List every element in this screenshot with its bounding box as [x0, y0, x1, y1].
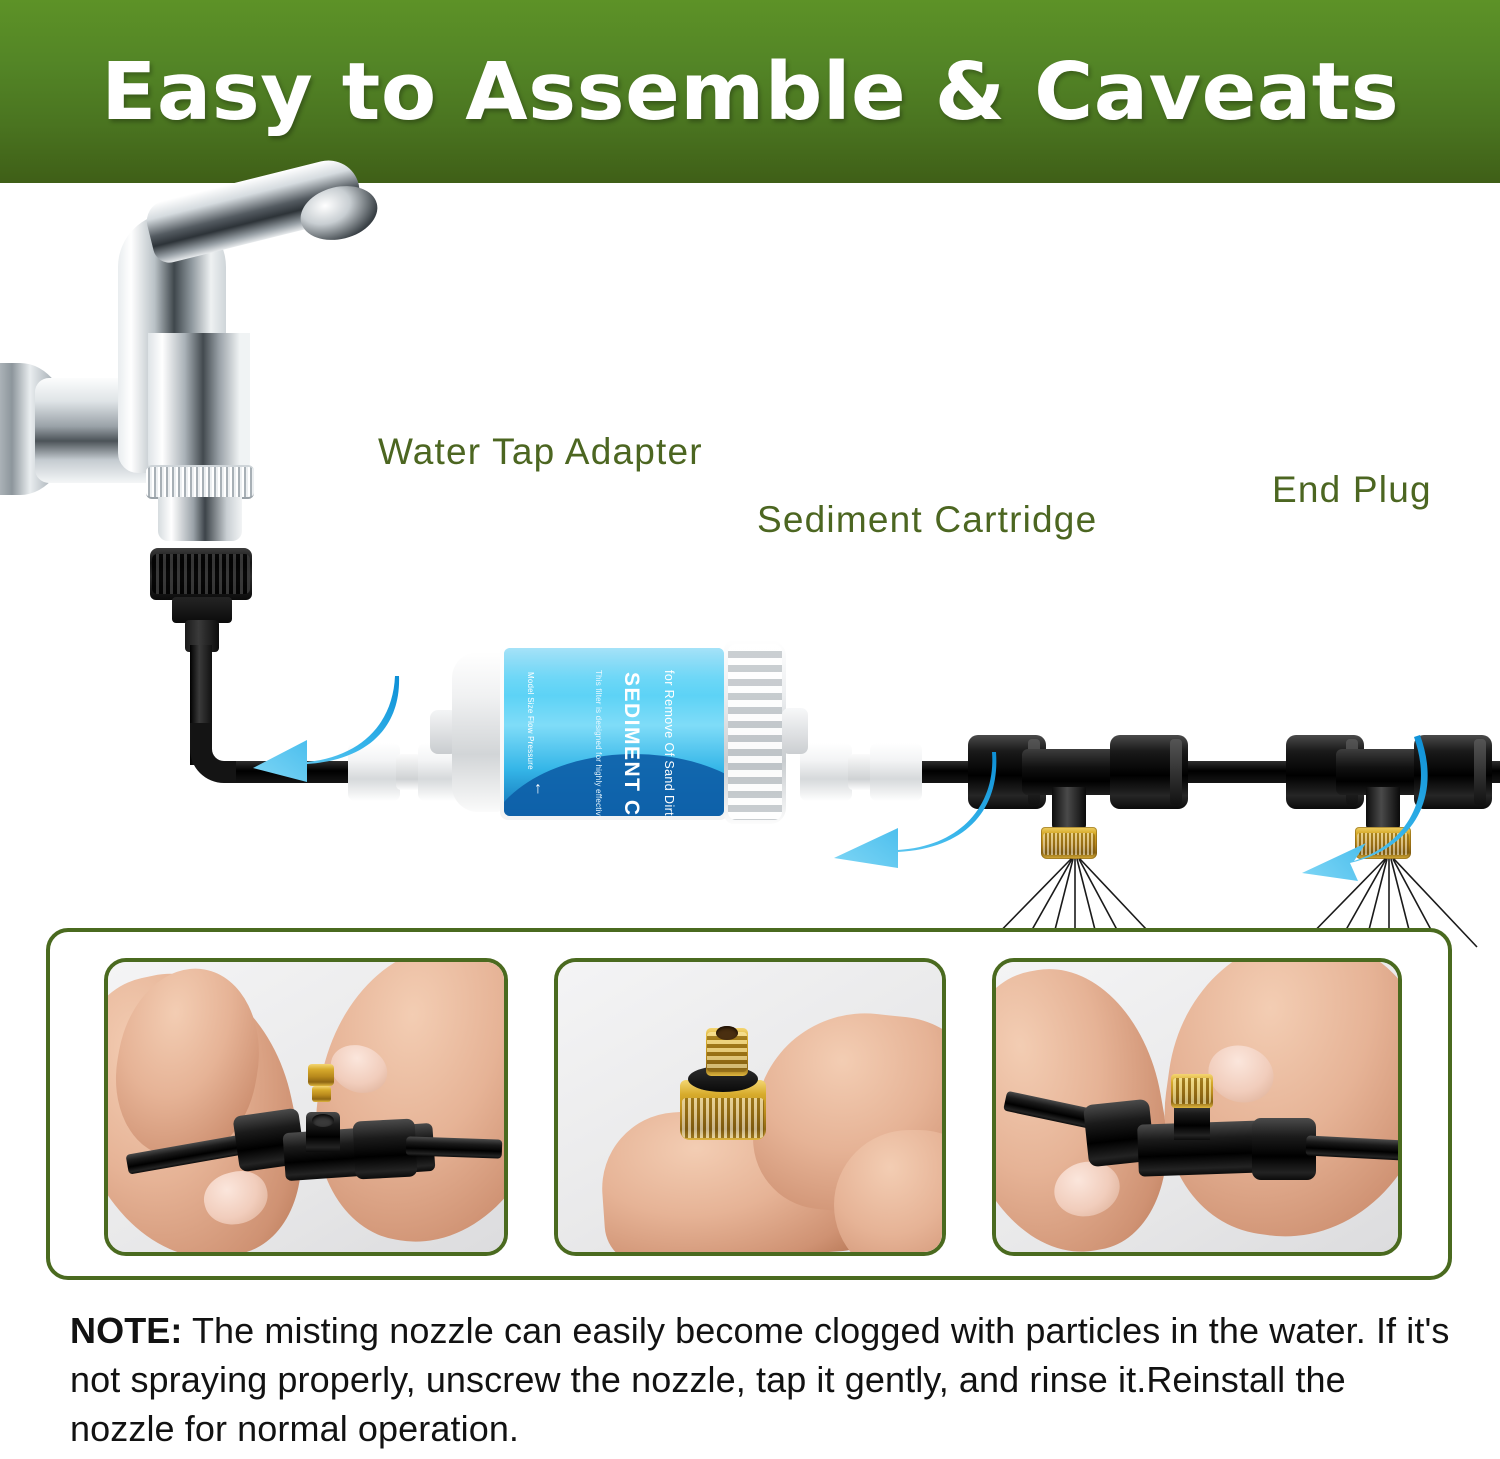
label-sediment-cartridge: Sediment Cartridge — [757, 499, 1097, 541]
nozzle-knurl-texture — [682, 1098, 764, 1138]
arrow-to-end-plug-icon — [1296, 731, 1446, 881]
cartridge-outlet-nipple — [782, 708, 808, 754]
faucet-outlet — [158, 497, 242, 541]
cartridge-spec-text: Model Size Flow Pressure — [522, 672, 538, 770]
tee-port-opening-photo1 — [312, 1114, 334, 1127]
note-body: The misting nozzle can easily become clo… — [70, 1310, 1450, 1449]
photo-panel-group — [46, 928, 1452, 1280]
photo-tighten-nozzle — [992, 958, 1402, 1256]
adapter-ribs — [152, 554, 250, 594]
assembly-diagram: Water Tap Adapter Sediment Cartridge End… — [0, 183, 1500, 913]
page-title: Easy to Assemble & Caveats — [101, 46, 1399, 138]
brass-nozzle-tip-photo1 — [312, 1086, 331, 1102]
cartridge-cap-ribs — [728, 644, 782, 820]
tubing-photo1-right — [406, 1136, 503, 1158]
infographic-page: Easy to Assemble & Caveats Water Tap Ada… — [0, 0, 1500, 1459]
tee-drop-1 — [1052, 787, 1086, 831]
cartridge-brand-text: SEDIMENT CARTRIDGE — [619, 672, 643, 816]
sediment-cartridge-filter: SEDIMENT CARTRIDGE for Remove Of Sand Di… — [452, 638, 804, 826]
nozzle-orifice — [716, 1026, 738, 1040]
photo-nozzle-closeup — [554, 958, 946, 1256]
brass-nozzle-knurl-photo3 — [1173, 1078, 1211, 1104]
brass-nozzle-photo1 — [308, 1064, 334, 1086]
cartridge-end-cap-left — [452, 652, 506, 812]
label-end-plug: End Plug — [1272, 469, 1432, 511]
connector-2 — [1110, 735, 1188, 809]
arrow-to-cartridge-icon — [820, 748, 1000, 868]
cartridge-flow-arrow-icon: ↑ — [534, 780, 542, 798]
cartridge-subtitle-text: for Remove Of Sand Dirt And Rust Particl… — [661, 670, 676, 816]
arrow-to-tap-adapter-icon — [243, 670, 403, 782]
note-text: NOTE: The misting nozzle can easily beco… — [70, 1306, 1450, 1453]
faucet-knurled-ring — [146, 465, 254, 499]
label-water-tap-adapter: Water Tap Adapter — [378, 431, 703, 473]
photo-insert-nozzle — [104, 958, 508, 1256]
note-prefix: NOTE: — [70, 1310, 183, 1351]
header-banner: Easy to Assemble & Caveats — [0, 0, 1500, 183]
cartridge-label-wrap: SEDIMENT CARTRIDGE for Remove Of Sand Di… — [504, 648, 724, 816]
cartridge-description-text: This filter is designed for highly effec… — [593, 670, 604, 816]
